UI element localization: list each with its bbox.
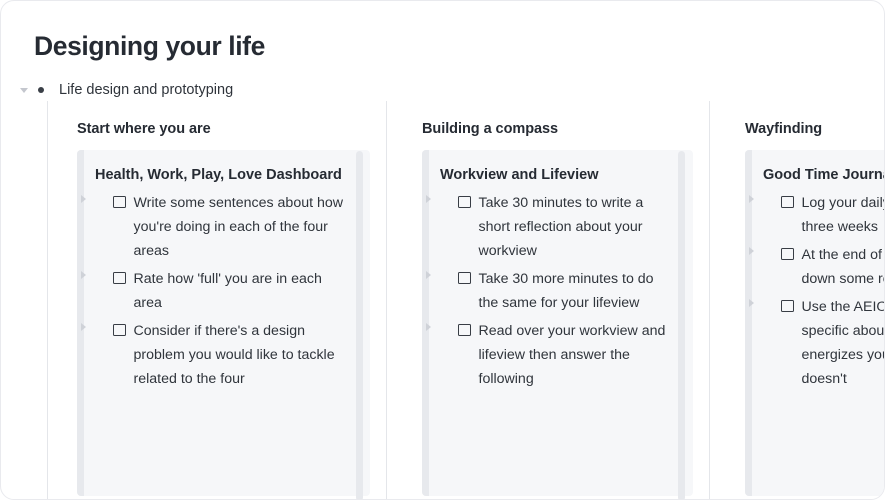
board-root: Designing your life Life design and prot…	[0, 0, 885, 500]
list-item[interactable]: Read over your workview and lifeview the…	[458, 317, 677, 393]
list-item[interactable]: Rate how 'full' you are in each area	[113, 265, 354, 317]
triangle-right-icon[interactable]	[426, 271, 431, 279]
root-outline-row[interactable]: Life design and prototyping	[1, 79, 233, 101]
list-item[interactable]: Log your daily activities for three week…	[781, 189, 885, 241]
column-wayfinding: Wayfinding Good Time Journal Log your da…	[709, 101, 885, 499]
root-item-label: Life design and prototyping	[59, 82, 233, 98]
card-title: Workview and Lifeview	[440, 164, 677, 186]
card-wrapper: Health, Work, Play, Love Dashboard Write…	[77, 150, 370, 496]
card-wrapper: Good Time Journal Log your daily activit…	[745, 150, 885, 496]
todo-text: Take 30 more minutes to do the same for …	[479, 267, 678, 315]
column-title: Building a compass	[422, 121, 693, 137]
todo-text: Read over your workview and lifeview the…	[479, 319, 678, 391]
triangle-right-icon[interactable]	[749, 247, 754, 255]
list-item[interactable]: Use the AEIOU method to get specific abo…	[781, 293, 885, 393]
todo-text: Take 30 minutes to write a short reflect…	[479, 191, 678, 263]
checkbox[interactable]	[113, 272, 126, 285]
list-item[interactable]: Write some sentences about how you're do…	[113, 189, 354, 265]
outline-guide-line	[47, 101, 48, 500]
triangle-right-icon[interactable]	[81, 195, 86, 203]
todo-text: Consider if there's a design problem you…	[134, 319, 355, 391]
todo-text: At the end of each week write down some …	[802, 243, 885, 291]
columns-container: Start where you are Health, Work, Play, …	[63, 101, 884, 499]
triangle-right-icon[interactable]	[81, 323, 86, 331]
checkbox[interactable]	[458, 324, 471, 337]
column-start-where-you-are: Start where you are Health, Work, Play, …	[63, 101, 386, 499]
list-item[interactable]: Take 30 more minutes to do the same for …	[458, 265, 677, 317]
column-building-a-compass: Building a compass Workview and Lifeview…	[386, 101, 709, 499]
checkbox[interactable]	[781, 300, 794, 313]
card-title: Good Time Journal	[763, 164, 885, 186]
list-item[interactable]: Take 30 minutes to write a short reflect…	[458, 189, 677, 265]
card[interactable]: Good Time Journal Log your daily activit…	[745, 150, 885, 496]
checkbox[interactable]	[458, 196, 471, 209]
card-wrapper: Workview and Lifeview Take 30 minutes to…	[422, 150, 693, 496]
triangle-down-icon[interactable]	[17, 79, 31, 101]
bullet-dot-icon[interactable]	[33, 87, 49, 94]
checkbox[interactable]	[113, 324, 126, 337]
todo-text: Write some sentences about how you're do…	[134, 191, 355, 263]
todo-text: Rate how 'full' you are in each area	[134, 267, 355, 315]
column-scrollbar[interactable]	[678, 151, 685, 500]
checkbox[interactable]	[781, 196, 794, 209]
triangle-right-icon[interactable]	[749, 299, 754, 307]
triangle-right-icon[interactable]	[81, 271, 86, 279]
card[interactable]: Health, Work, Play, Love Dashboard Write…	[77, 150, 370, 496]
triangle-right-icon[interactable]	[749, 195, 754, 203]
checkbox[interactable]	[113, 196, 126, 209]
triangle-right-icon[interactable]	[426, 195, 431, 203]
page-title: Designing your life	[34, 31, 265, 63]
checkbox[interactable]	[458, 272, 471, 285]
checkbox[interactable]	[781, 248, 794, 261]
card[interactable]: Workview and Lifeview Take 30 minutes to…	[422, 150, 693, 496]
list-item[interactable]: At the end of each week write down some …	[781, 241, 885, 293]
card-title: Health, Work, Play, Love Dashboard	[95, 164, 354, 186]
column-title: Start where you are	[77, 121, 370, 137]
todo-text: Use the AEIOU method to get specific abo…	[802, 295, 885, 391]
triangle-right-icon[interactable]	[426, 323, 431, 331]
column-scrollbar[interactable]	[356, 151, 363, 500]
todo-text: Log your daily activities for three week…	[802, 191, 885, 239]
column-title: Wayfinding	[745, 121, 885, 137]
list-item[interactable]: Consider if there's a design problem you…	[113, 317, 354, 393]
